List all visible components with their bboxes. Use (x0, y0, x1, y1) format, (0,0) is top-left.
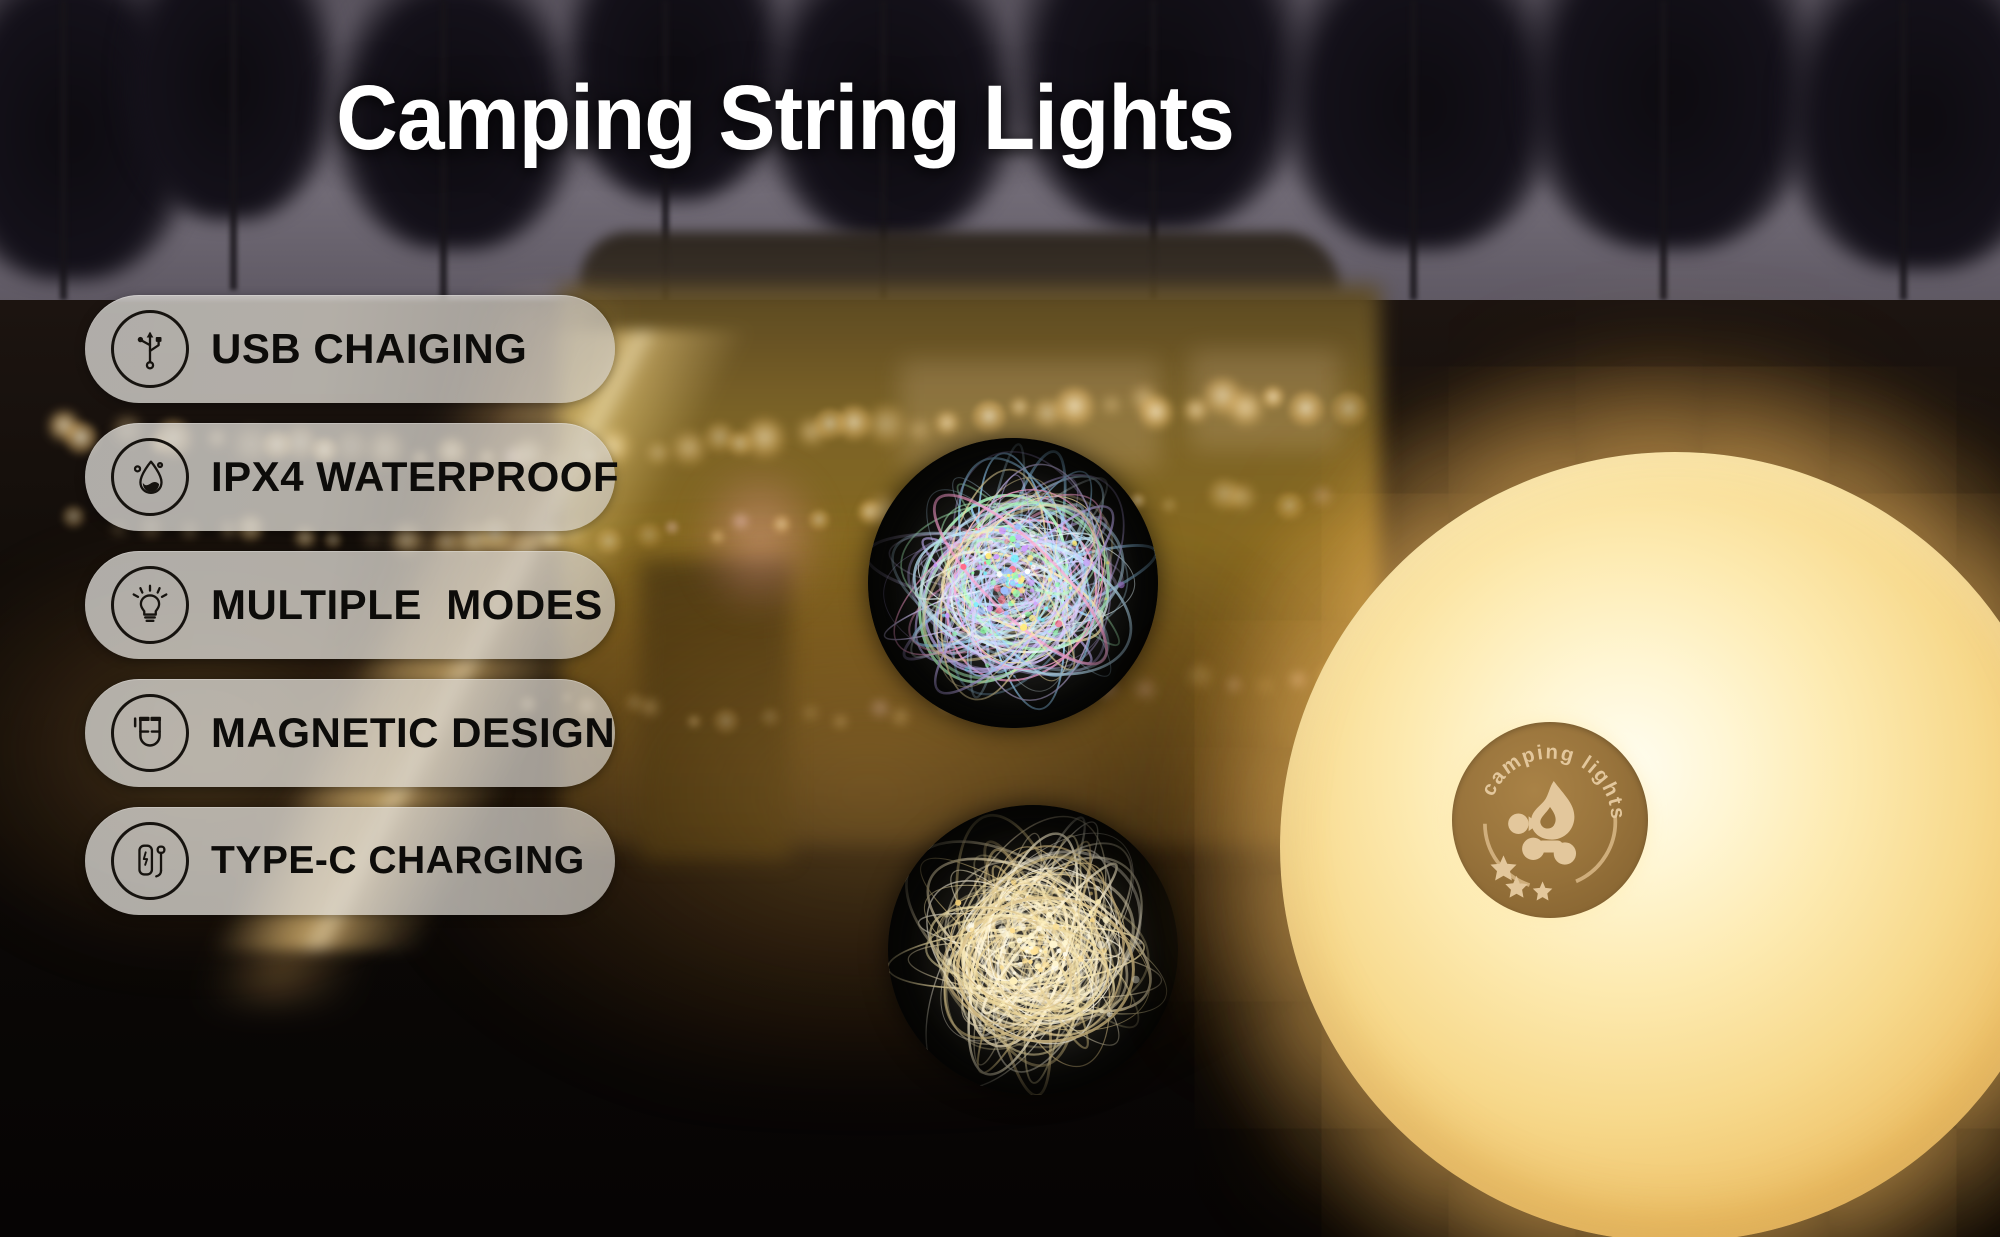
camper-window (1190, 350, 1340, 450)
product-photo-multicolor-string-lights (868, 438, 1158, 728)
brand-logo-badge: camping lights (1452, 722, 1648, 918)
lightbulb-icon (111, 566, 189, 644)
feature-label: MULTIPLE MODES (211, 581, 603, 629)
feature-pill-multiple-modes[interactable]: MULTIPLE MODES (85, 551, 615, 659)
product-photo-warm-string-lights (888, 805, 1178, 1095)
campfire-flame-icon: camping lights (1457, 727, 1643, 913)
page-title: Camping String Lights (55, 72, 1515, 164)
warm-white-wire-coil (888, 805, 1178, 1095)
feature-pill-magnetic-design[interactable]: MAGNETIC DESIGN (85, 679, 615, 787)
feature-pill-ipx4-waterproof[interactable]: IPX4 WATERPROOF (85, 423, 615, 531)
feature-pill-type-c-charging[interactable]: TYPE-C CHARGING (85, 807, 615, 915)
feature-label: MAGNETIC DESIGN (211, 709, 615, 757)
multicolor-wire-coil (868, 438, 1158, 728)
magnet-icon (111, 694, 189, 772)
tree-trunk (1900, 0, 1907, 300)
camper-roof (580, 232, 1340, 294)
usb-icon (111, 310, 189, 388)
feature-list: USB CHAIGING IPX4 WATERPROOF (85, 295, 615, 935)
feature-label: IPX4 WATERPROOF (211, 453, 619, 501)
product-marketing-image: Camping String Lights USB CHAIGING (0, 0, 2000, 1237)
waterdrop-icon (111, 438, 189, 516)
tree-trunk (1660, 0, 1667, 300)
feature-label: USB CHAIGING (211, 325, 527, 373)
feature-pill-usb-chaiging[interactable]: USB CHAIGING (85, 295, 615, 403)
typec-icon (111, 822, 189, 900)
feature-label: TYPE-C CHARGING (211, 839, 585, 883)
